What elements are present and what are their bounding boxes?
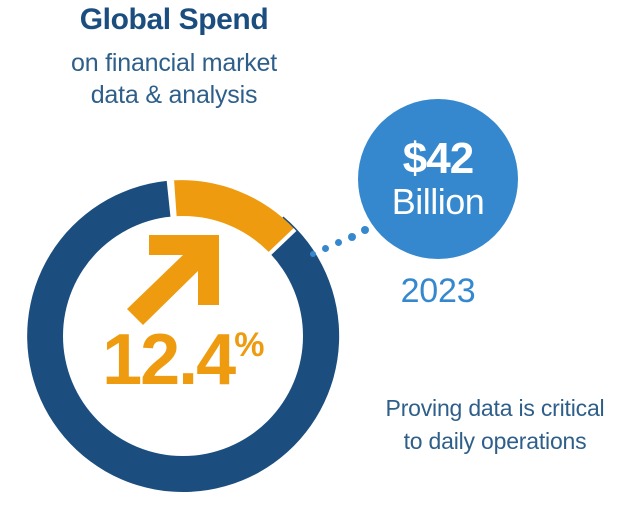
caption-text: Proving data is critical to daily operat…	[350, 392, 640, 458]
caption-line-1: Proving data is critical	[350, 392, 640, 425]
connector-dot	[322, 245, 329, 252]
donut-hole	[63, 216, 303, 456]
value-bubble: $42 Billion	[358, 99, 518, 259]
bubble-unit: Billion	[392, 182, 485, 222]
heading-block: Global Spend on financial market data & …	[0, 0, 348, 111]
connector-dot	[348, 233, 356, 241]
bubble-amount: $42	[403, 136, 473, 182]
page-subtitle-line-2: data & analysis	[0, 79, 348, 111]
infographic-root: Global Spend on financial market data & …	[0, 0, 640, 515]
connector-dot	[310, 251, 316, 257]
connector-dot	[335, 239, 342, 246]
donut-chart-svg	[25, 178, 341, 494]
year-label: 2023	[358, 272, 518, 311]
connector-dot	[361, 226, 369, 234]
donut-chart: 12.4%	[25, 178, 341, 494]
caption-line-2: to daily operations	[350, 425, 640, 458]
page-subtitle: on financial market data & analysis	[0, 38, 348, 111]
page-subtitle-line-1: on financial market	[0, 47, 348, 79]
page-title: Global Spend	[0, 0, 348, 38]
